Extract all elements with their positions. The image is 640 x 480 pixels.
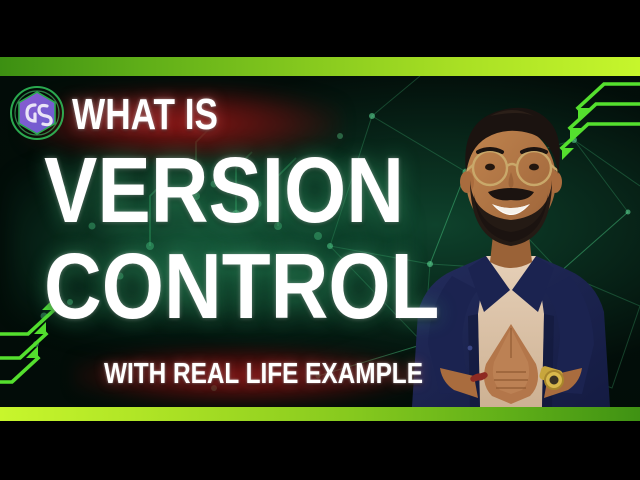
subtitle-text: WITH REAL LIFE EXAMPLE [104, 360, 423, 389]
thumbnail-frame: WHAT IS VERSION CONTROL WITH REAL LIFE E… [0, 0, 640, 480]
headline-line-1: WHAT IS [72, 93, 218, 137]
headline-line-2: VERSION [44, 144, 404, 237]
thumbnail-stage: WHAT IS VERSION CONTROL WITH REAL LIFE E… [0, 76, 640, 407]
headline-line-3: CONTROL [44, 240, 439, 333]
channel-logo [8, 84, 66, 142]
accent-bar-top [0, 57, 640, 76]
letterbox-bottom [0, 421, 640, 480]
letterbox-top [0, 0, 640, 57]
accent-bar-bottom [0, 407, 640, 421]
